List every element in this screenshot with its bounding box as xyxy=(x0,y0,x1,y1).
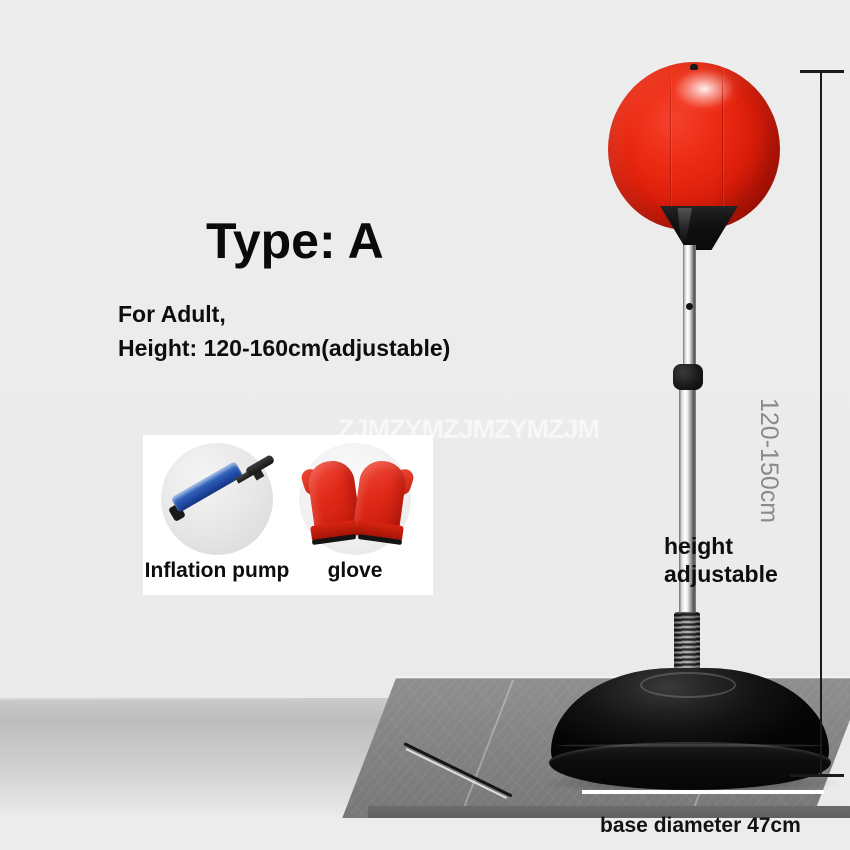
height-adjust-knob xyxy=(673,364,703,390)
product-image: ZJMZYMZJMZYMZJMZYM Type: A For Adult, He… xyxy=(0,0,850,850)
accessories-panel: Inflation pump glove xyxy=(143,435,433,595)
base-collar-ring xyxy=(640,672,736,698)
height-adjustable-line1: height xyxy=(664,532,778,560)
accessory-label: Inflation pump xyxy=(139,559,295,583)
spec-height: Height: 120-160cm(adjustable) xyxy=(118,331,450,365)
accessory-item: Inflation pump xyxy=(153,443,281,555)
base-diameter-label: base diameter 47cm xyxy=(600,814,801,838)
spec-audience: For Adult, xyxy=(118,297,450,331)
height-adjustable-note: height adjustable xyxy=(664,532,778,588)
pole-lower-section xyxy=(679,375,696,650)
punching-ball xyxy=(608,62,780,230)
accessory-label: glove xyxy=(291,559,419,583)
ball-valve-icon xyxy=(690,64,698,70)
dimension-bottom-cap xyxy=(790,774,844,777)
base-groove xyxy=(556,744,824,747)
pole-upper-section xyxy=(683,245,696,383)
dimension-height-label: 120-150cm xyxy=(754,398,783,523)
spec-text: For Adult, Height: 120-160cm(adjustable) xyxy=(118,297,450,365)
dimension-top-cap xyxy=(800,70,844,73)
height-adjustable-line2: adjustable xyxy=(664,560,778,588)
base-diameter-line xyxy=(582,790,824,794)
pole-height-pin xyxy=(686,303,693,310)
ball-seam xyxy=(670,67,671,225)
dimension-vertical-line xyxy=(820,72,822,776)
ball-seam xyxy=(722,67,723,225)
page-title: Type: A xyxy=(206,212,384,270)
accessory-item: glove xyxy=(291,443,419,555)
